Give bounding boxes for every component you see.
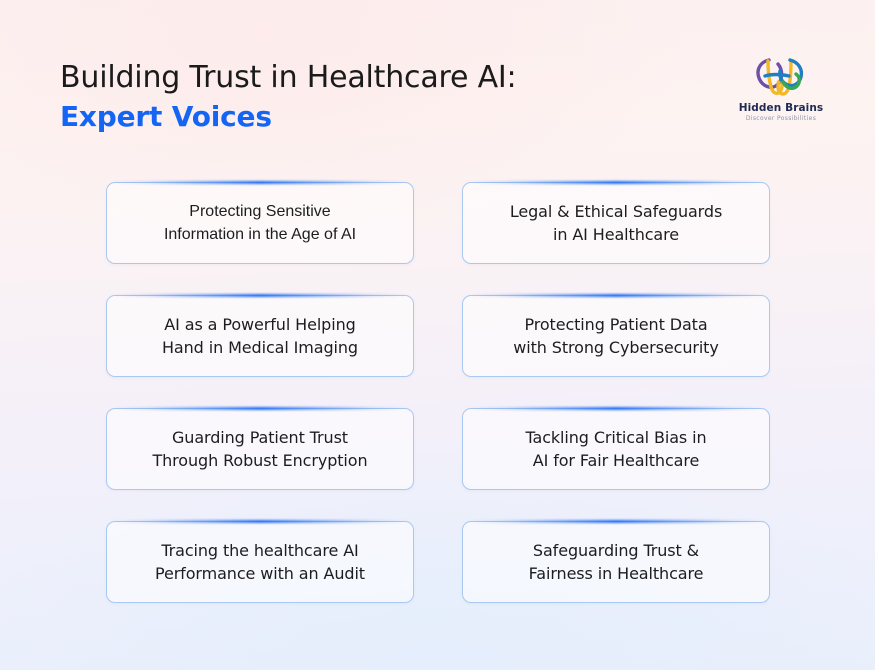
- card-protecting-patient-data[interactable]: Protecting Patient Data with Strong Cybe…: [462, 295, 770, 377]
- card-label: Protecting Patient Data with Strong Cybe…: [513, 313, 718, 359]
- card-ai-powerful-helping-hand[interactable]: AI as a Powerful Helping Hand in Medical…: [106, 295, 414, 377]
- header: Building Trust in Healthcare AI: Expert …: [0, 0, 875, 160]
- card-tackling-critical-bias[interactable]: Tackling Critical Bias in AI for Fair He…: [462, 408, 770, 490]
- page-title: Building Trust in Healthcare AI: Expert …: [60, 58, 516, 136]
- card-label: Legal & Ethical Safeguards in AI Healthc…: [510, 200, 722, 246]
- card-label: Tracing the healthcare AI Performance wi…: [155, 539, 365, 585]
- card-label: AI as a Powerful Helping Hand in Medical…: [162, 313, 358, 359]
- brand-logo[interactable]: Hidden Brains Discover Possibilities: [735, 52, 827, 122]
- card-legal-ethical-safeguards[interactable]: Legal & Ethical Safeguards in AI Healthc…: [462, 182, 770, 264]
- card-safeguarding-trust-fairness[interactable]: Safeguarding Trust & Fairness in Healthc…: [462, 521, 770, 603]
- logo-tagline: Discover Possibilities: [735, 115, 827, 122]
- card-label: Protecting Sensitive Information in the …: [164, 200, 356, 246]
- infographic-page: Building Trust in Healthcare AI: Expert …: [0, 0, 875, 670]
- title-line-accent: Expert Voices: [60, 98, 516, 136]
- card-label: Tackling Critical Bias in AI for Fair He…: [525, 426, 706, 472]
- hidden-brains-h-monogram-icon: [735, 52, 827, 100]
- card-label: Safeguarding Trust & Fairness in Healthc…: [529, 539, 704, 585]
- card-tracing-healthcare-ai-performance[interactable]: Tracing the healthcare AI Performance wi…: [106, 521, 414, 603]
- topic-card-grid: Protecting Sensitive Information in the …: [106, 182, 770, 603]
- card-label: Guarding Patient Trust Through Robust En…: [152, 426, 367, 472]
- card-protecting-sensitive-information[interactable]: Protecting Sensitive Information in the …: [106, 182, 414, 264]
- title-line-primary: Building Trust in Healthcare AI:: [60, 58, 516, 98]
- card-guarding-patient-trust[interactable]: Guarding Patient Trust Through Robust En…: [106, 408, 414, 490]
- logo-name: Hidden Brains: [735, 102, 827, 114]
